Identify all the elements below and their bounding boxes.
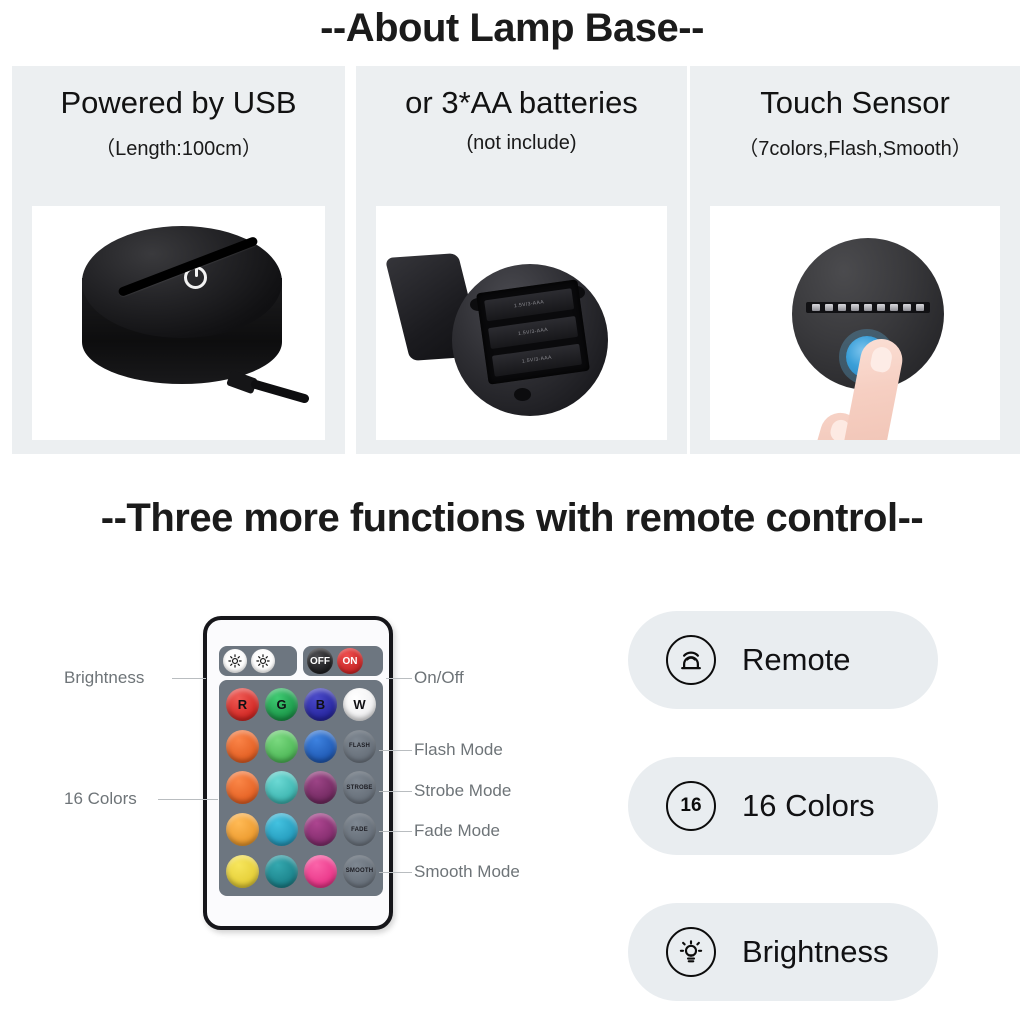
led-segment xyxy=(916,304,924,311)
callout-16-colors: 16 Colors xyxy=(64,789,137,809)
callout-flash-mode: Flash Mode xyxy=(414,740,503,760)
feature-label-brightness: Brightness xyxy=(742,934,888,970)
remote-top-row: OFF ON xyxy=(219,646,383,676)
feature-card-remote[interactable]: Remote xyxy=(628,611,938,709)
off-button[interactable]: OFF xyxy=(307,648,333,674)
led-segment xyxy=(812,304,820,311)
battery-slot: 1.5V/3-AAA xyxy=(492,344,582,377)
color-button-blue[interactable]: B xyxy=(304,688,337,721)
color-button-green-2[interactable] xyxy=(265,730,298,763)
panel-powered-by-usb: Powered by USB （Length:100cm） xyxy=(12,66,345,454)
color-button-teal-2[interactable] xyxy=(265,855,298,888)
led-segment xyxy=(877,304,885,311)
leader-line-16-colors xyxy=(158,799,218,800)
remote-keypad-grid: R G B W FLASH STROBE FADE SMOOTH xyxy=(219,680,383,896)
battery-slot: 1.5V/3-AAA xyxy=(484,288,574,321)
finger-nail xyxy=(869,345,893,373)
bulb-brightness-icon xyxy=(666,927,716,977)
sun-icon xyxy=(228,654,242,668)
color-button-cyan[interactable] xyxy=(265,813,298,846)
sixteen-circle-icon: 16 xyxy=(666,781,716,831)
rubber-foot xyxy=(514,388,531,401)
color-button-red[interactable]: R xyxy=(226,688,259,721)
callout-strobe-mode: Strobe Mode xyxy=(414,781,511,801)
leader-line-fade xyxy=(379,831,412,832)
panel-aa-batteries: or 3*AA batteries (not include) 1.5V/3-A… xyxy=(356,66,687,454)
smooth-mode-button[interactable]: SMOOTH xyxy=(343,855,376,888)
product-info-page: --About Lamp Base-- Powered by USB （Leng… xyxy=(0,0,1024,1024)
led-segment xyxy=(890,304,898,311)
remote-signal-icon xyxy=(666,635,716,685)
panel-touch-title: Touch Sensor xyxy=(690,86,1020,120)
leader-line-brightness xyxy=(172,678,206,679)
usb-cable xyxy=(250,379,310,404)
panel-battery-subtitle: (not include) xyxy=(356,132,687,155)
color-button-blue-2[interactable] xyxy=(304,730,337,763)
panel-touch-subtitle: （7colors,Flash,Smooth） xyxy=(690,132,1020,161)
color-button-purple-1[interactable] xyxy=(304,771,337,804)
led-segment xyxy=(838,304,846,311)
remote-signal-glyph xyxy=(676,645,706,675)
callout-brightness: Brightness xyxy=(64,668,144,688)
led-segment xyxy=(851,304,859,311)
sixteen-number-text: 16 xyxy=(680,795,701,817)
sun-icon xyxy=(256,654,270,668)
fade-mode-button[interactable]: FADE xyxy=(343,813,376,846)
touch-sensor-photo xyxy=(710,206,1000,440)
color-button-purple-2[interactable] xyxy=(304,813,337,846)
leader-line-onoff xyxy=(386,678,412,679)
flash-mode-button[interactable]: FLASH xyxy=(343,730,376,763)
page-title-three-more-functions: --Three more functions with remote contr… xyxy=(0,496,1024,541)
brightness-up-button[interactable] xyxy=(223,649,247,673)
feature-label-16-colors: 16 Colors xyxy=(742,788,875,824)
feature-label-remote: Remote xyxy=(742,642,851,678)
feature-card-brightness[interactable]: Brightness xyxy=(628,903,938,1001)
leader-line-strobe xyxy=(379,791,412,792)
panel-usb-subtitle: （Length:100cm） xyxy=(12,132,345,161)
callout-smooth-mode: Smooth Mode xyxy=(414,862,520,882)
color-button-green[interactable]: G xyxy=(265,688,298,721)
color-button-amber[interactable] xyxy=(226,813,259,846)
battery-cavity: 1.5V/3-AAA 1.5V/3-AAA 1.5V/3-AAA xyxy=(476,279,590,384)
led-segment xyxy=(825,304,833,311)
leader-line-flash xyxy=(379,750,412,751)
color-button-yellow[interactable] xyxy=(226,855,259,888)
bulb-glyph xyxy=(676,937,706,967)
battery-slot: 1.5V/3-AAA xyxy=(488,316,578,349)
leader-line-smooth xyxy=(379,872,412,873)
panel-battery-title: or 3*AA batteries xyxy=(356,86,687,120)
brightness-down-button[interactable] xyxy=(251,649,275,673)
callout-on-off: On/Off xyxy=(414,668,464,688)
color-button-orange-2[interactable] xyxy=(226,771,259,804)
color-button-orange-1[interactable] xyxy=(226,730,259,763)
remote-control[interactable]: OFF ON R G B W FLASH STROBE FADE xyxy=(203,616,393,930)
color-button-pink[interactable] xyxy=(304,855,337,888)
panel-touch-sensor: Touch Sensor （7colors,Flash,Smooth） xyxy=(690,66,1020,454)
feature-card-16-colors[interactable]: 16 16 Colors xyxy=(628,757,938,855)
color-button-white[interactable]: W xyxy=(343,688,376,721)
led-segment xyxy=(903,304,911,311)
battery-compartment-photo: 1.5V/3-AAA 1.5V/3-AAA 1.5V/3-AAA xyxy=(376,206,667,440)
power-group: OFF ON xyxy=(303,646,383,676)
panel-usb-title: Powered by USB xyxy=(12,86,345,120)
brightness-group xyxy=(219,646,297,676)
callout-fade-mode: Fade Mode xyxy=(414,821,500,841)
usb-lamp-base-photo xyxy=(32,206,325,440)
led-strip xyxy=(806,302,930,313)
color-button-teal-1[interactable] xyxy=(265,771,298,804)
page-title-about-lamp-base: --About Lamp Base-- xyxy=(0,6,1024,51)
on-button[interactable]: ON xyxy=(337,648,363,674)
led-segment xyxy=(864,304,872,311)
strobe-mode-button[interactable]: STROBE xyxy=(343,771,376,804)
